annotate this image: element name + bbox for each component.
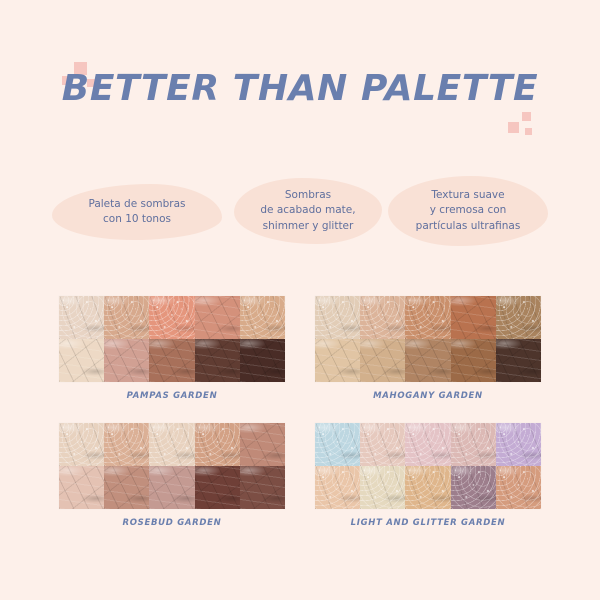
shade-swatch[interactable]: [405, 423, 450, 466]
shade-swatch[interactable]: [360, 296, 405, 339]
palette-card-0[interactable]: PAMPAS GARDEN: [59, 296, 285, 401]
shade-swatch[interactable]: [451, 466, 496, 509]
palette-caption: ROSEBUD GARDEN: [59, 518, 285, 528]
shade-swatch[interactable]: [496, 466, 541, 509]
shade-swatch[interactable]: [496, 296, 541, 339]
shade-swatch[interactable]: [496, 339, 541, 382]
palette-row-bottom: ROSEBUD GARDEN LIGHT AND GLITTER GARDEN: [0, 423, 600, 528]
palette-gallery: PAMPAS GARDEN MAHOGANY GARDEN ROSEBUD GA…: [0, 296, 600, 530]
shade-swatch[interactable]: [195, 423, 240, 466]
palette-caption: LIGHT AND GLITTER GARDEN: [315, 518, 541, 528]
sparkle-icon: [525, 128, 532, 135]
palette-card-3[interactable]: LIGHT AND GLITTER GARDEN: [315, 423, 541, 528]
palette-row-top: PAMPAS GARDEN MAHOGANY GARDEN: [0, 296, 600, 401]
feature-blob-3: Textura suavey cremosa conpartículas ult…: [388, 176, 548, 246]
shade-swatch[interactable]: [315, 423, 360, 466]
feature-blob-3-text: Textura suavey cremosa conpartículas ult…: [416, 188, 521, 234]
feature-blob-group: Paleta de sombrascon 10 tonos Sombrasde …: [52, 172, 548, 250]
shade-swatch[interactable]: [405, 339, 450, 382]
shade-swatch[interactable]: [59, 296, 104, 339]
shade-swatch[interactable]: [149, 296, 194, 339]
shade-swatch[interactable]: [451, 423, 496, 466]
shade-swatch[interactable]: [195, 339, 240, 382]
shade-swatch[interactable]: [451, 296, 496, 339]
shade-swatch[interactable]: [195, 296, 240, 339]
sparkle-icon: [508, 122, 519, 133]
shade-swatch[interactable]: [104, 296, 149, 339]
palette-card-2[interactable]: ROSEBUD GARDEN: [59, 423, 285, 528]
shade-swatch[interactable]: [195, 466, 240, 509]
feature-blob-1: Paleta de sombrascon 10 tonos: [52, 184, 222, 240]
shade-swatch[interactable]: [405, 466, 450, 509]
shade-swatch[interactable]: [496, 423, 541, 466]
shade-swatch[interactable]: [360, 466, 405, 509]
shade-swatch[interactable]: [240, 466, 285, 509]
shade-swatch[interactable]: [59, 423, 104, 466]
feature-blob-1-text: Paleta de sombrascon 10 tonos: [88, 197, 185, 227]
shade-swatch[interactable]: [360, 423, 405, 466]
palette-caption: MAHOGANY GARDEN: [315, 391, 541, 401]
shade-swatch[interactable]: [240, 296, 285, 339]
sparkle-icon: [522, 112, 531, 121]
shade-swatch[interactable]: [315, 466, 360, 509]
palette-card-1[interactable]: MAHOGANY GARDEN: [315, 296, 541, 401]
page-title: BETTER THAN PALETTE: [0, 68, 600, 109]
shade-swatch[interactable]: [149, 423, 194, 466]
shade-swatch[interactable]: [59, 466, 104, 509]
palette-swatch-grid: [59, 296, 285, 382]
palette-swatch-grid: [315, 296, 541, 382]
shade-swatch[interactable]: [451, 339, 496, 382]
shade-swatch[interactable]: [59, 339, 104, 382]
palette-swatch-grid: [59, 423, 285, 509]
shade-swatch[interactable]: [315, 296, 360, 339]
shade-swatch[interactable]: [104, 466, 149, 509]
shade-swatch[interactable]: [149, 466, 194, 509]
shade-swatch[interactable]: [315, 339, 360, 382]
shade-swatch[interactable]: [240, 339, 285, 382]
feature-blob-2: Sombrasde acabado mate,shimmer y glitter: [234, 178, 382, 244]
palette-swatch-grid: [315, 423, 541, 509]
shade-swatch[interactable]: [104, 423, 149, 466]
shade-swatch[interactable]: [405, 296, 450, 339]
feature-blob-2-text: Sombrasde acabado mate,shimmer y glitter: [260, 188, 355, 234]
palette-caption: PAMPAS GARDEN: [59, 391, 285, 401]
shade-swatch[interactable]: [104, 339, 149, 382]
shade-swatch[interactable]: [149, 339, 194, 382]
shade-swatch[interactable]: [240, 423, 285, 466]
shade-swatch[interactable]: [360, 339, 405, 382]
